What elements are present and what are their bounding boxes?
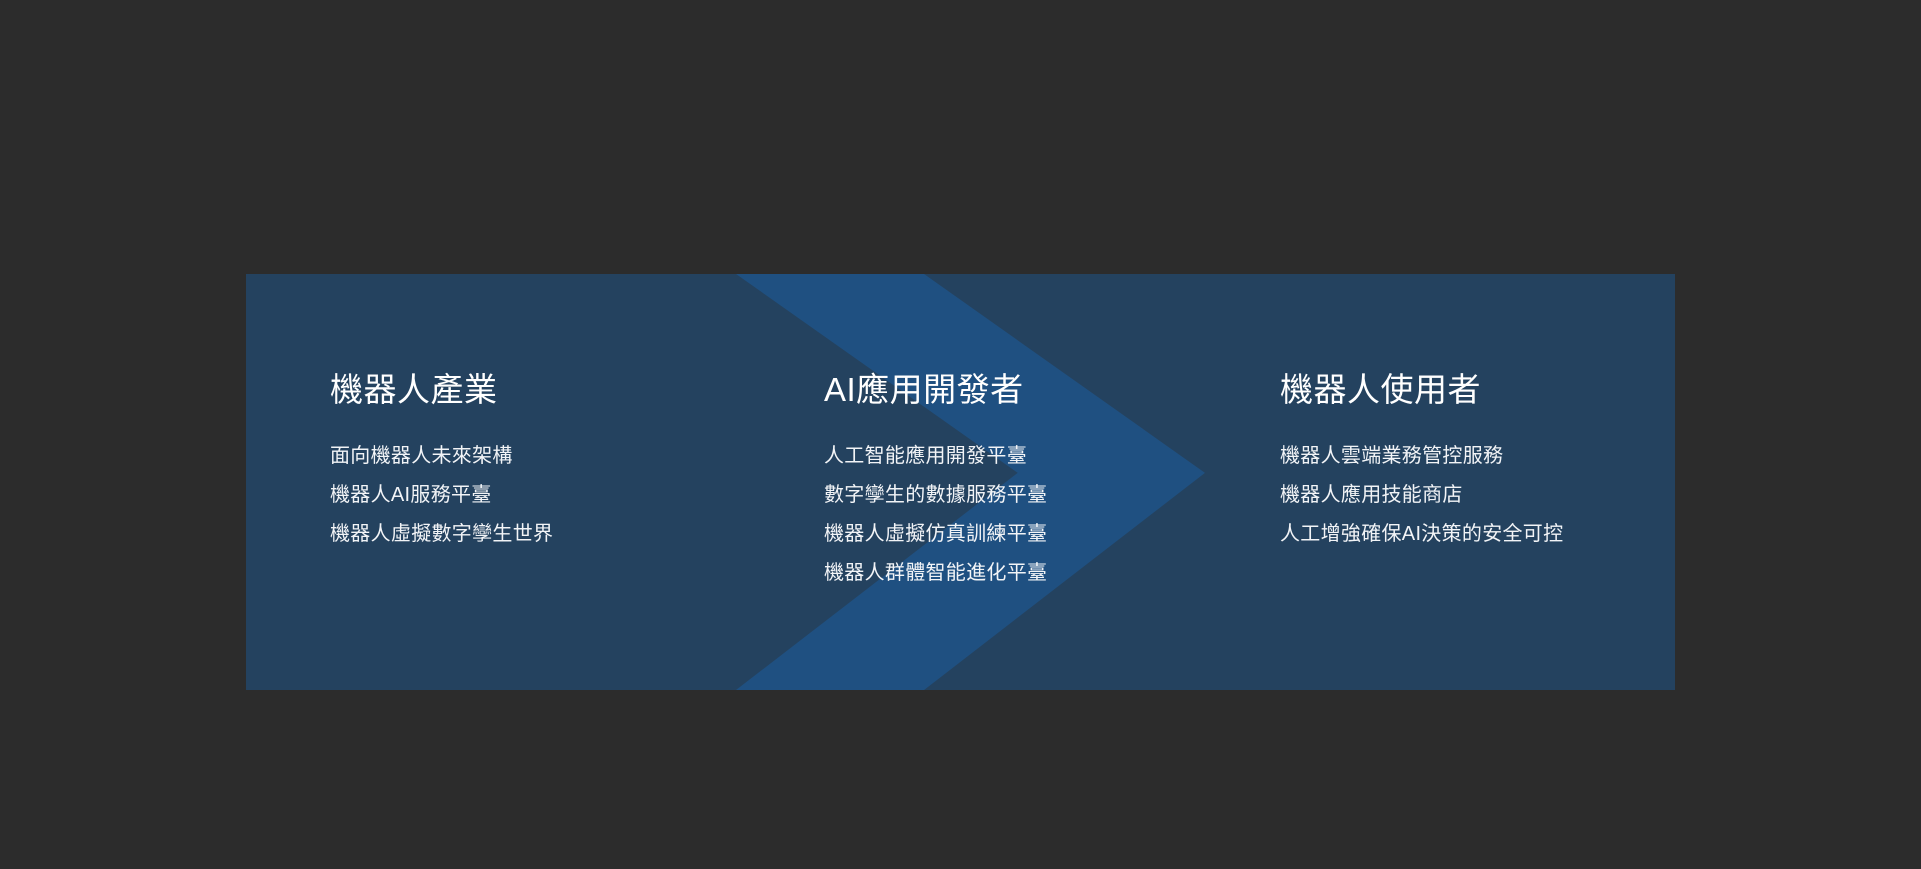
three-stage-chevron-banner: 機器人產業 面向機器人未來架構 機器人AI服務平臺 機器人虛擬數字孿生世界 AI… <box>246 274 1675 690</box>
list-item: 人工增強確保AI決策的安全可控 <box>1280 518 1563 550</box>
banner-columns: 機器人產業 面向機器人未來架構 機器人AI服務平臺 機器人虛擬數字孿生世界 AI… <box>246 274 1675 690</box>
list-item: 數字孿生的數據服務平臺 <box>824 479 1047 511</box>
column-heading-robot-industry: 機器人產業 <box>330 370 498 410</box>
column-robot-user: 機器人使用者 機器人雲端業務管控服務 機器人應用技能商店 人工增強確保AI決策的… <box>1280 274 1660 690</box>
column-heading-ai-app-developer: AI應用開發者 <box>824 370 1024 410</box>
column-robot-industry: 機器人產業 面向機器人未來架構 機器人AI服務平臺 機器人虛擬數字孿生世界 <box>330 274 690 690</box>
list-item: 面向機器人未來架構 <box>330 440 553 472</box>
column-ai-app-developer: AI應用開發者 人工智能應用開發平臺 數字孿生的數據服務平臺 機器人虛擬仿真訓練… <box>824 274 1204 690</box>
list-item: 機器人AI服務平臺 <box>330 479 553 511</box>
column-heading-robot-user: 機器人使用者 <box>1280 370 1481 410</box>
list-item: 機器人虛擬仿真訓練平臺 <box>824 518 1047 550</box>
list-item: 機器人應用技能商店 <box>1280 479 1563 511</box>
column-list-robot-industry: 面向機器人未來架構 機器人AI服務平臺 機器人虛擬數字孿生世界 <box>330 440 553 550</box>
list-item: 機器人虛擬數字孿生世界 <box>330 518 553 550</box>
column-list-robot-user: 機器人雲端業務管控服務 機器人應用技能商店 人工增強確保AI決策的安全可控 <box>1280 440 1563 550</box>
list-item: 人工智能應用開發平臺 <box>824 440 1047 472</box>
list-item: 機器人雲端業務管控服務 <box>1280 440 1563 472</box>
list-item: 機器人群體智能進化平臺 <box>824 557 1047 589</box>
slide-canvas: 機器人產業 面向機器人未來架構 機器人AI服務平臺 機器人虛擬數字孿生世界 AI… <box>0 0 1921 869</box>
column-list-ai-app-developer: 人工智能應用開發平臺 數字孿生的數據服務平臺 機器人虛擬仿真訓練平臺 機器人群體… <box>824 440 1047 589</box>
